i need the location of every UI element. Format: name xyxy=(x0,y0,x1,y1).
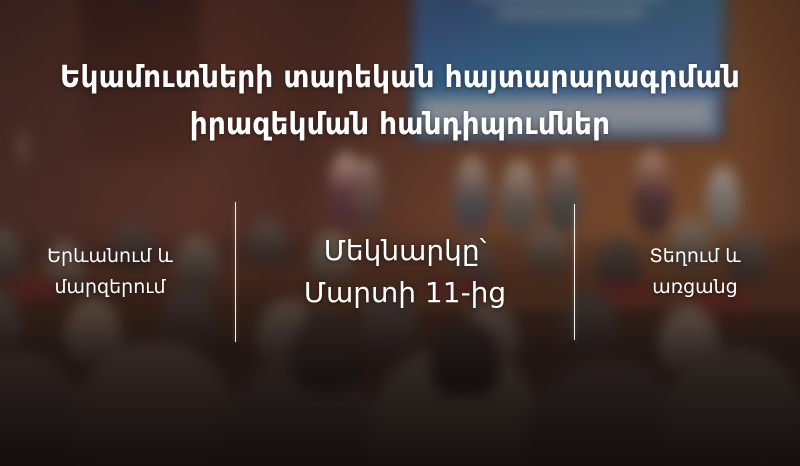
info-row: Երևանում և մարզերում Մեկնարկը՝ Մարտի 11-… xyxy=(0,196,800,348)
info-format-line-1: Տեղում և xyxy=(595,241,795,272)
text-overlay: Եկամուտների տարեկան հայտարարագրման իրազե… xyxy=(0,0,800,466)
vertical-divider-left xyxy=(235,202,236,342)
banner-title: Եկամուտների տարեկան հայտարարագրման իրազե… xyxy=(28,54,772,148)
info-column-location: Երևանում և մարզերում xyxy=(5,241,215,303)
info-format-line-2: առցանց xyxy=(595,272,795,303)
info-location-line-2: մարզերում xyxy=(5,272,215,303)
event-banner: Եկամուտների տարեկան հայտարարագրման իրազե… xyxy=(0,0,800,466)
info-column-start-date: Մեկնարկը՝ Մարտի 11-ից xyxy=(254,230,556,314)
info-location-line-1: Երևանում և xyxy=(5,241,215,272)
banner-title-line-1: Եկամուտների տարեկան հայտարարագրման xyxy=(28,54,772,101)
info-column-format: Տեղում և առցանց xyxy=(595,241,795,303)
vertical-divider-right xyxy=(574,204,575,340)
info-start-date-line-1: Մեկնարկը՝ xyxy=(254,230,556,272)
banner-title-line-2: իրազեկման հանդիպումներ xyxy=(28,101,772,148)
info-start-date-line-2: Մարտի 11-ից xyxy=(254,272,556,314)
